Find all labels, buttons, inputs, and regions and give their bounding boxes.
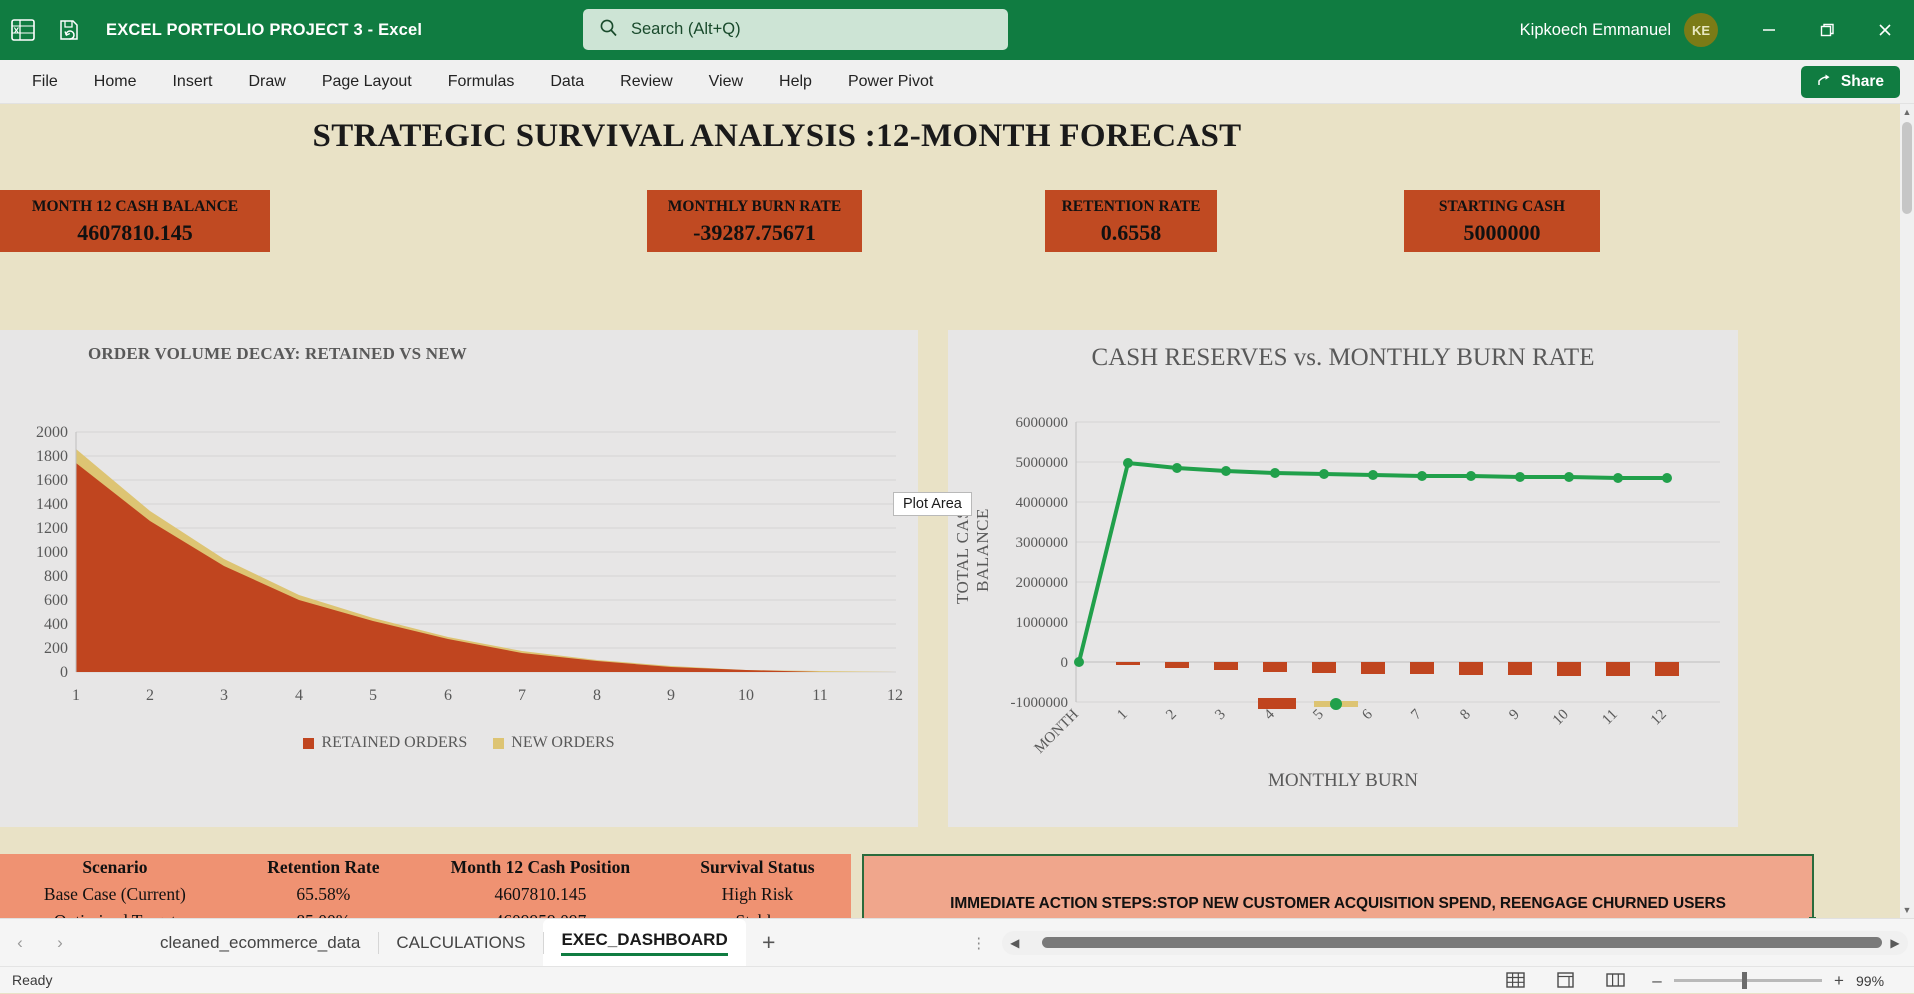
svg-text:1200: 1200	[36, 520, 68, 537]
chart-order-volume-decay[interactable]: ORDER VOLUME DECAY: RETAINED VS NEW	[0, 330, 918, 827]
svg-text:800: 800	[44, 568, 68, 585]
ribbon-tab-formulas[interactable]: Formulas	[430, 65, 533, 99]
sheet-tab-bar: ‹ › cleaned_ecommerce_data CALCULATIONS …	[0, 918, 1914, 966]
add-sheet-button[interactable]: +	[746, 919, 792, 967]
scenario-comparison-table[interactable]: Scenario Retention Rate Month 12 Cash Po…	[0, 854, 851, 918]
avatar[interactable]: KE	[1684, 13, 1718, 47]
svg-text:7: 7	[1408, 706, 1425, 723]
svg-text:5000000: 5000000	[1016, 455, 1069, 471]
ribbon-tab-insert[interactable]: Insert	[154, 65, 230, 99]
svg-text:1000000: 1000000	[1016, 615, 1069, 631]
legend-item-retained-orders[interactable]: RETAINED ORDERS	[303, 734, 467, 752]
svg-text:2000000: 2000000	[1016, 575, 1069, 591]
user-name[interactable]: Kipkoech Emmanuel	[1520, 21, 1671, 40]
ribbon-tab-home[interactable]: Home	[76, 65, 155, 99]
svg-text:6: 6	[1359, 706, 1376, 723]
x-axis-title: MONTHLY BURN	[948, 770, 1738, 792]
svg-text:2000: 2000	[36, 424, 68, 441]
normal-view-icon[interactable]	[1490, 967, 1540, 994]
kpi-value: -39287.75671	[647, 219, 862, 247]
search-input[interactable]: Search (Alt+Q)	[631, 20, 741, 39]
svg-text:4: 4	[295, 687, 303, 704]
svg-text:10: 10	[738, 687, 754, 704]
svg-text:1: 1	[72, 687, 80, 704]
kpi-card-starting-cash[interactable]: STARTING CASH 5000000	[1404, 190, 1600, 252]
svg-text:3: 3	[1212, 707, 1229, 724]
title-bar: X EXCEL PORTFOLIO PROJECT 3 - Excel Sear…	[0, 0, 1914, 60]
action-steps-text: IMMEDIATE ACTION STEPS:STOP NEW CUSTOMER…	[950, 895, 1726, 918]
kpi-card-monthly-burn-rate[interactable]: MONTHLY BURN RATE -39287.75671	[647, 190, 862, 252]
svg-text:6000000: 6000000	[1016, 415, 1069, 431]
ribbon-tab-draw[interactable]: Draw	[230, 65, 303, 99]
horizontal-scrollbar[interactable]: ◀ ▶	[1002, 931, 1908, 955]
zoom-slider[interactable]	[1674, 979, 1822, 982]
sheet-tab-label: CALCULATIONS	[396, 933, 525, 953]
legend-item-new-orders[interactable]: NEW ORDERS	[493, 734, 614, 752]
save-refresh-icon[interactable]	[46, 0, 92, 60]
table-header-row: Scenario Retention Rate Month 12 Cash Po…	[0, 854, 851, 881]
svg-text:12: 12	[887, 687, 903, 704]
share-button[interactable]: Share	[1801, 66, 1900, 98]
tab-options-icon[interactable]: ⋮	[962, 919, 996, 967]
search-icon	[599, 18, 618, 42]
cell-cash-position: 4609959.097	[417, 908, 664, 918]
sheet-tab-exec-dashboard[interactable]: EXEC_DASHBOARD	[543, 919, 745, 967]
ribbon-tab-file[interactable]: File	[14, 65, 76, 99]
svg-text:1600: 1600	[36, 472, 68, 489]
svg-text:11: 11	[812, 687, 827, 704]
svg-text:8: 8	[593, 687, 601, 704]
kpi-label: RETENTION RATE	[1045, 195, 1217, 219]
svg-text:3000000: 3000000	[1016, 535, 1069, 551]
scroll-down-icon[interactable]: ▼	[1900, 902, 1914, 918]
svg-text:4000000: 4000000	[1016, 495, 1069, 511]
svg-text:5: 5	[1310, 707, 1327, 724]
svg-text:1400: 1400	[36, 496, 68, 513]
kpi-label: MONTHLY BURN RATE	[647, 195, 862, 219]
scroll-right-icon[interactable]: ▶	[1882, 936, 1908, 950]
legend-label: NEW ORDERS	[511, 734, 614, 752]
sheet-tab-cleaned-ecommerce-data[interactable]: cleaned_ecommerce_data	[142, 919, 378, 967]
kpi-card-month12-cash-balance[interactable]: MONTH 12 CASH BALANCE 4607810.145	[0, 190, 270, 252]
chart-legend-swatches	[1258, 698, 1358, 710]
svg-text:2: 2	[1163, 707, 1180, 724]
svg-text:1: 1	[1114, 707, 1131, 724]
cell-scenario: Optimized Target	[0, 908, 230, 918]
minimize-icon[interactable]	[1740, 0, 1798, 60]
column-header-month12-cash-position: Month 12 Cash Position	[417, 854, 664, 881]
excel-icon: X	[0, 0, 46, 60]
title-bar-right: Kipkoech Emmanuel KE	[1520, 0, 1914, 60]
page-layout-view-icon[interactable]	[1540, 967, 1590, 994]
cell-retention-rate: 65.58%	[230, 881, 417, 908]
kpi-value: 0.6558	[1045, 219, 1217, 247]
chevron-left-icon[interactable]: ‹	[0, 919, 40, 967]
svg-text:0: 0	[60, 664, 68, 681]
svg-text:12: 12	[1648, 707, 1670, 729]
svg-text:200: 200	[44, 640, 68, 657]
page-title: STRATEGIC SURVIVAL ANALYSIS :12-MONTH FO…	[0, 118, 1554, 155]
cell-survival-status: High Risk	[664, 881, 851, 908]
svg-text:600: 600	[44, 592, 68, 609]
svg-text:6: 6	[444, 687, 452, 704]
cell-retention-rate: 85.00%	[230, 908, 417, 918]
svg-text:3: 3	[220, 687, 228, 704]
status-text: Ready	[12, 972, 52, 988]
svg-text:10: 10	[1550, 707, 1572, 729]
column-header-survival-status: Survival Status	[664, 854, 851, 881]
svg-text:MONTH: MONTH	[1032, 706, 1082, 756]
svg-text:7: 7	[518, 687, 526, 704]
kpi-label: STARTING CASH	[1404, 195, 1600, 219]
svg-text:11: 11	[1599, 707, 1621, 729]
status-bar-right: – + 99%	[1490, 967, 1914, 994]
sheet-tab-label: cleaned_ecommerce_data	[160, 933, 360, 953]
scroll-up-icon[interactable]: ▲	[1900, 104, 1914, 120]
svg-text:5: 5	[369, 687, 377, 704]
zoom-level-label[interactable]: 99%	[1856, 973, 1902, 989]
sheet-tab-label: EXEC_DASHBOARD	[561, 930, 727, 956]
cell-cash-position: 4607810.145	[417, 881, 664, 908]
svg-text:9: 9	[667, 687, 675, 704]
chart-cash-reserves-vs-burn[interactable]: CASH RESERVES vs. MONTHLY BURN RATE TOTA…	[948, 330, 1738, 827]
column-header-retention-rate: Retention Rate	[230, 854, 417, 881]
share-icon	[1817, 72, 1833, 93]
close-icon[interactable]	[1856, 0, 1914, 60]
chart-legend: RETAINED ORDERS NEW ORDERS	[0, 734, 918, 752]
ribbon-tab-page-layout[interactable]: Page Layout	[304, 65, 430, 99]
kpi-value: 4607810.145	[0, 219, 270, 247]
area-chart-plot: 2000 1800 1600 1400 1200 1000 800 600 40…	[0, 370, 918, 790]
svg-text:2: 2	[146, 687, 154, 704]
legend-label: RETAINED ORDERS	[321, 734, 467, 752]
ribbon-tab-data[interactable]: Data	[532, 65, 602, 99]
cell-survival-status: Stable	[664, 908, 851, 918]
chevron-right-icon[interactable]: ›	[40, 919, 80, 967]
burn-bars	[1116, 662, 1679, 676]
page-break-view-icon[interactable]	[1590, 967, 1640, 994]
vertical-scrollbar[interactable]: ▲ ▼	[1900, 104, 1914, 918]
svg-text:400: 400	[44, 616, 68, 633]
zoom-out-button[interactable]: –	[1650, 971, 1664, 991]
document-title: EXCEL PORTFOLIO PROJECT 3 - Excel	[106, 21, 422, 40]
table-row[interactable]: Optimized Target 85.00% 4609959.097 Stab…	[0, 908, 851, 918]
ribbon-tab-power-pivot[interactable]: Power Pivot	[830, 65, 951, 99]
table-row[interactable]: Base Case (Current) 65.58% 4607810.145 H…	[0, 881, 851, 908]
ribbon-tab-review[interactable]: Review	[602, 65, 690, 99]
line-markers	[1074, 458, 1672, 667]
worksheet-canvas: STRATEGIC SURVIVAL ANALYSIS :12-MONTH FO…	[0, 104, 1900, 918]
svg-text:1000: 1000	[36, 544, 68, 561]
zoom-in-button[interactable]: +	[1832, 971, 1846, 991]
scroll-left-icon[interactable]: ◀	[1002, 936, 1028, 950]
status-bar: Ready –	[0, 966, 1914, 993]
immediate-action-steps-box[interactable]: IMMEDIATE ACTION STEPS:STOP NEW CUSTOMER…	[862, 854, 1814, 918]
column-header-scenario: Scenario	[0, 854, 230, 881]
ribbon-tab-bar: File Home Insert Draw Page Layout Formul…	[0, 60, 1914, 104]
vertical-scroll-thumb[interactable]	[1902, 122, 1912, 214]
svg-text:-1000000: -1000000	[1011, 695, 1069, 711]
cell-scenario: Base Case (Current)	[0, 881, 230, 908]
line-chart-plot: 6000000 5000000 4000000 3000000 2000000 …	[948, 370, 1738, 790]
svg-text:X: X	[14, 26, 20, 36]
zoom-slider-knob[interactable]	[1742, 972, 1747, 989]
zoom-control[interactable]: – +	[1650, 971, 1846, 991]
legend-swatch-icon	[303, 738, 314, 749]
ribbon-tab-help[interactable]: Help	[761, 65, 830, 99]
ribbon-tab-view[interactable]: View	[691, 65, 761, 99]
sheet-tab-calculations[interactable]: CALCULATIONS	[378, 919, 543, 967]
kpi-label: MONTH 12 CASH BALANCE	[0, 195, 270, 219]
plot-area-tooltip: Plot Area	[893, 492, 972, 516]
svg-text:9: 9	[1506, 707, 1523, 724]
restore-icon[interactable]	[1798, 0, 1856, 60]
svg-text:1800: 1800	[36, 448, 68, 465]
svg-text:8: 8	[1457, 707, 1474, 724]
kpi-value: 5000000	[1404, 219, 1600, 247]
search-box[interactable]: Search (Alt+Q)	[583, 9, 1008, 50]
svg-text:0: 0	[1061, 655, 1069, 671]
kpi-card-retention-rate[interactable]: RETENTION RATE 0.6558	[1045, 190, 1217, 252]
share-label: Share	[1841, 73, 1884, 91]
chart-title: ORDER VOLUME DECAY: RETAINED VS NEW	[88, 344, 467, 364]
horizontal-scroll-thumb[interactable]	[1042, 937, 1882, 948]
legend-swatch-icon	[493, 738, 504, 749]
chart-title: CASH RESERVES vs. MONTHLY BURN RATE	[948, 344, 1738, 372]
